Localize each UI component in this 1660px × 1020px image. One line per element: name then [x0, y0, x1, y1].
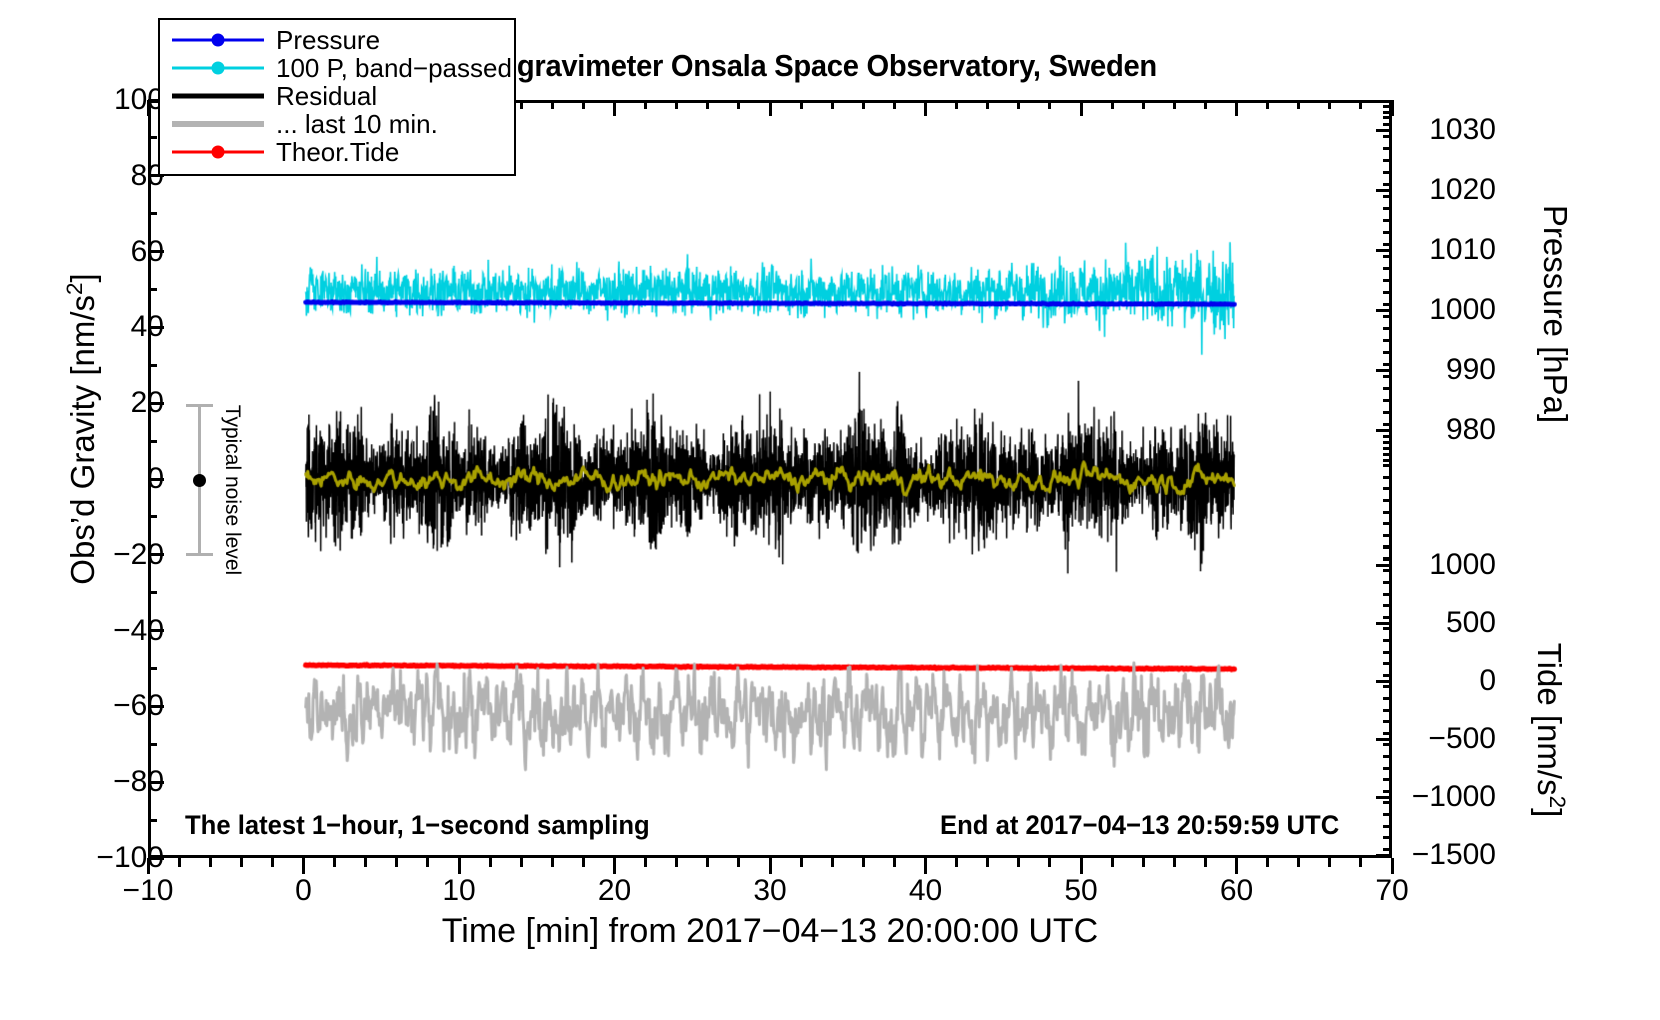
x-tick-minor — [520, 858, 523, 867]
x-tick-minor — [551, 858, 554, 867]
y-tick-left-minor — [148, 819, 157, 822]
y-tick-right-minor — [1383, 116, 1392, 119]
legend-item-label: Theor.Tide — [264, 137, 399, 168]
y-tick-pressure-minor — [1383, 147, 1392, 150]
y-tick-pressure — [1376, 129, 1392, 132]
y-tick-right-minor — [1383, 511, 1392, 514]
x-tick-top-minor — [1297, 100, 1300, 109]
y-tick-tide-label: −500 — [1404, 724, 1496, 754]
y-tick-pressure-minor — [1383, 351, 1392, 354]
x-tick-top — [769, 100, 772, 116]
y-tick-tide-minor — [1383, 662, 1392, 665]
y-tick-tide-minor — [1383, 767, 1392, 770]
plot-area — [148, 100, 1392, 858]
y-tick-pressure — [1376, 369, 1392, 372]
x-tick — [1080, 858, 1083, 874]
y-tick-right-minor — [1383, 453, 1392, 456]
y-tick-pressure — [1376, 429, 1392, 432]
x-tick-label: −10 — [88, 876, 208, 906]
y-tick-tide — [1376, 796, 1392, 799]
y-tick-left-label: −60 — [44, 691, 164, 721]
x-tick-minor — [426, 858, 429, 867]
x-tick-minor — [862, 858, 865, 867]
x-tick-top-minor — [1142, 100, 1145, 109]
legend-item-2: Residual — [160, 82, 514, 110]
y-tick-pressure-minor — [1383, 183, 1392, 186]
y-tick-pressure — [1376, 249, 1392, 252]
x-tick-top — [924, 100, 927, 116]
y-axis-tide-label: Tide [nm/s2] — [1530, 580, 1570, 880]
y-tick-right-minor — [1383, 487, 1392, 490]
x-tick-top-minor — [737, 100, 740, 109]
legend-swatch-icon — [172, 58, 264, 78]
x-tick-minor — [675, 858, 678, 867]
y-tick-left-label: 80 — [44, 161, 164, 191]
y-tick-pressure-label: 980 — [1404, 415, 1496, 445]
x-tick-top-minor — [582, 100, 585, 109]
x-tick-minor — [240, 858, 243, 867]
y-tick-pressure-minor — [1383, 111, 1392, 114]
y-axis-pressure-label: Pressure [hPa] — [1536, 149, 1574, 479]
y-tick-right-minor — [1383, 105, 1392, 108]
x-tick — [613, 858, 616, 874]
y-tick-pressure-label: 1010 — [1404, 235, 1496, 265]
y-tick-pressure-minor — [1383, 387, 1392, 390]
y-tick-pressure-minor — [1383, 291, 1392, 294]
y-tick-tide-minor — [1383, 616, 1392, 619]
x-tick-top-minor — [1111, 100, 1114, 109]
x-tick-top-minor — [675, 100, 678, 109]
y-tick-tide-label: 0 — [1404, 666, 1496, 696]
y-tick-tide — [1376, 564, 1392, 567]
legend-item-label: Residual — [264, 81, 377, 112]
x-tick-top-minor — [520, 100, 523, 109]
x-tick-top-minor — [1048, 100, 1051, 109]
y-tick-tide-minor — [1383, 697, 1392, 700]
y-tick-right-minor — [1383, 545, 1392, 548]
y-tick-tide-minor — [1383, 685, 1392, 688]
y-tick-pressure-minor — [1383, 339, 1392, 342]
x-tick-label: 50 — [1021, 876, 1141, 906]
y-tick-tide-minor — [1383, 755, 1392, 758]
y-tick-tide-minor — [1383, 836, 1392, 839]
y-tick-right-minor — [1383, 534, 1392, 537]
y-tick-pressure-minor — [1383, 267, 1392, 270]
x-tick-minor — [893, 858, 896, 867]
y-tick-tide-minor — [1383, 790, 1392, 793]
legend-marker-dot — [212, 34, 225, 47]
x-tick — [302, 858, 305, 874]
y-tick-tide-minor — [1383, 627, 1392, 630]
x-tick-minor — [489, 858, 492, 867]
y-tick-pressure-minor — [1383, 219, 1392, 222]
x-tick-minor — [1359, 858, 1362, 867]
x-tick-label: 20 — [555, 876, 675, 906]
y-tick-tide-minor — [1383, 639, 1392, 642]
y-tick-pressure-minor — [1383, 327, 1392, 330]
y-tick-tide-minor — [1383, 743, 1392, 746]
y-tick-pressure-minor — [1383, 435, 1392, 438]
y-tick-pressure-minor — [1383, 207, 1392, 210]
x-tick-minor — [737, 858, 740, 867]
legend-item-label: Pressure — [264, 25, 380, 56]
y-tick-pressure-label: 1030 — [1404, 115, 1496, 145]
y-tick-tide-minor — [1383, 593, 1392, 596]
y-tick-pressure-minor — [1383, 315, 1392, 318]
y-tick-pressure-minor — [1383, 411, 1392, 414]
x-tick-label: 0 — [244, 876, 364, 906]
legend-marker-dot — [212, 62, 225, 75]
x-tick-top-minor — [955, 100, 958, 109]
x-tick-label: 10 — [399, 876, 519, 906]
y-tick-pressure-minor — [1383, 255, 1392, 258]
noise-bar-bottom-cap — [186, 553, 213, 556]
y-tick-left-minor — [148, 515, 157, 518]
y-tick-pressure-label: 990 — [1404, 355, 1496, 385]
x-tick-minor — [706, 858, 709, 867]
x-tick-top-minor — [1204, 100, 1207, 109]
x-tick-label: 70 — [1332, 876, 1452, 906]
y-tick-left-label: −80 — [44, 767, 164, 797]
y-tick-tide-minor — [1383, 720, 1392, 723]
y-tick-tide-minor — [1383, 848, 1392, 851]
y-tick-tide — [1376, 622, 1392, 625]
x-tick-top-minor — [862, 100, 865, 109]
noise-center-dot — [193, 474, 206, 487]
x-tick-minor — [800, 858, 803, 867]
y-tick-tide-minor — [1383, 581, 1392, 584]
x-tick-minor — [271, 858, 274, 867]
x-tick-label: 30 — [710, 876, 830, 906]
end-time-note: End at 2017−04−13 20:59:59 UTC — [940, 810, 1339, 841]
x-tick-top — [147, 100, 150, 116]
y-tick-pressure-minor — [1383, 135, 1392, 138]
x-tick-minor — [831, 858, 834, 867]
x-tick-minor — [1017, 858, 1020, 867]
y-tick-left-minor — [148, 288, 157, 291]
y-tick-tide-minor — [1383, 604, 1392, 607]
x-tick-top-minor — [706, 100, 709, 109]
x-tick-label: 60 — [1177, 876, 1297, 906]
y-tick-pressure-minor — [1383, 123, 1392, 126]
legend-swatch-icon — [172, 30, 264, 50]
legend: Pressure100 P, band−passedResidual... la… — [158, 18, 516, 176]
x-tick-minor — [1266, 858, 1269, 867]
x-tick-minor — [1173, 858, 1176, 867]
y-tick-pressure-minor — [1383, 459, 1392, 462]
legend-item-label: ... last 10 min. — [264, 109, 438, 140]
x-axis-label: Time [min] from 2017−04−13 20:00:00 UTC — [148, 912, 1392, 951]
x-tick-top — [1391, 100, 1394, 116]
y-tick-tide-minor — [1383, 778, 1392, 781]
y-tick-pressure-minor — [1383, 231, 1392, 234]
y-tick-tide-label: 500 — [1404, 608, 1496, 638]
y-tick-tide-minor — [1383, 651, 1392, 654]
y-tick-pressure — [1376, 309, 1392, 312]
y-tick-tide-minor — [1383, 732, 1392, 735]
x-tick-minor — [364, 858, 367, 867]
x-tick-minor — [1142, 858, 1145, 867]
x-tick-minor — [1297, 858, 1300, 867]
y-tick-left-minor — [148, 440, 157, 443]
y-tick-tide — [1376, 738, 1392, 741]
x-tick-minor — [209, 858, 212, 867]
x-tick-top — [1080, 100, 1083, 116]
plot-canvas — [151, 103, 1389, 855]
x-tick — [1235, 858, 1238, 874]
y-tick-left-minor — [148, 667, 157, 670]
x-tick-minor — [1204, 858, 1207, 867]
y-tick-right-minor — [1383, 557, 1392, 560]
y-tick-tide — [1376, 680, 1392, 683]
y-tick-pressure-minor — [1383, 447, 1392, 450]
x-tick-label: 40 — [866, 876, 986, 906]
legend-item-3: ... last 10 min. — [160, 110, 514, 138]
y-axis-left-label: Obs’d Gravity [nm/s2] — [62, 199, 102, 659]
x-tick-minor — [582, 858, 585, 867]
y-tick-right-minor — [1383, 476, 1392, 479]
y-tick-tide-minor — [1383, 825, 1392, 828]
legend-item-4: Theor.Tide — [160, 138, 514, 166]
noise-level-label: Typical noise level — [220, 390, 244, 590]
y-tick-right-minor — [1383, 499, 1392, 502]
y-tick-left-minor — [148, 136, 157, 139]
x-tick — [458, 858, 461, 874]
y-tick-pressure-minor — [1383, 195, 1392, 198]
x-tick — [147, 858, 150, 874]
y-tick-pressure — [1376, 189, 1392, 192]
y-tick-pressure-minor — [1383, 303, 1392, 306]
x-tick — [769, 858, 772, 874]
y-tick-pressure-minor — [1383, 363, 1392, 366]
sampling-note: The latest 1−hour, 1−second sampling — [185, 810, 650, 841]
legend-item-1: 100 P, band−passed — [160, 54, 514, 82]
x-tick-minor — [644, 858, 647, 867]
x-tick-top-minor — [986, 100, 989, 109]
x-tick-top — [1235, 100, 1238, 116]
x-tick-top-minor — [893, 100, 896, 109]
legend-swatch-icon — [172, 86, 264, 106]
legend-item-0: Pressure — [160, 26, 514, 54]
x-tick-top-minor — [1328, 100, 1331, 109]
x-tick-minor — [1111, 858, 1114, 867]
y-tick-pressure-minor — [1383, 171, 1392, 174]
x-tick-top-minor — [800, 100, 803, 109]
y-tick-tide-label: −1000 — [1404, 782, 1496, 812]
y-tick-left-minor — [148, 364, 157, 367]
x-tick-top-minor — [1266, 100, 1269, 109]
x-tick-minor — [333, 858, 336, 867]
y-tick-tide-minor — [1383, 674, 1392, 677]
y-tick-pressure-label: 1000 — [1404, 295, 1496, 325]
y-tick-pressure-minor — [1383, 279, 1392, 282]
x-tick-top-minor — [831, 100, 834, 109]
y-tick-tide-label: −1500 — [1404, 840, 1496, 870]
y-tick-tide-minor — [1383, 709, 1392, 712]
x-tick-minor — [1328, 858, 1331, 867]
y-tick-pressure-minor — [1383, 375, 1392, 378]
x-tick-minor — [1048, 858, 1051, 867]
x-tick-minor — [178, 858, 181, 867]
x-tick-minor — [395, 858, 398, 867]
y-tick-tide-minor — [1383, 801, 1392, 804]
y-tick-left-minor — [148, 591, 157, 594]
x-tick-top-minor — [551, 100, 554, 109]
x-tick-top-minor — [644, 100, 647, 109]
y-tick-tide-minor — [1383, 813, 1392, 816]
y-tick-left-minor — [148, 212, 157, 215]
legend-item-label: 100 P, band−passed — [264, 53, 512, 84]
legend-swatch-icon — [172, 114, 264, 134]
x-tick — [1391, 858, 1394, 874]
y-tick-pressure-minor — [1383, 159, 1392, 162]
legend-marker-dot — [212, 146, 225, 159]
x-tick-minor — [986, 858, 989, 867]
x-tick-top — [613, 100, 616, 116]
y-tick-right-minor — [1383, 441, 1392, 444]
y-tick-left-minor — [148, 743, 157, 746]
x-tick-top-minor — [1173, 100, 1176, 109]
x-tick — [924, 858, 927, 874]
y-tick-tide-label: 1000 — [1404, 550, 1496, 580]
legend-swatch-icon — [172, 142, 264, 162]
y-tick-pressure-minor — [1383, 423, 1392, 426]
y-tick-tide — [1376, 854, 1392, 857]
y-tick-right-minor — [1383, 464, 1392, 467]
y-tick-pressure-minor — [1383, 243, 1392, 246]
x-tick-minor — [955, 858, 958, 867]
y-tick-right-minor — [1383, 522, 1392, 525]
x-tick-top-minor — [1359, 100, 1362, 109]
y-tick-pressure-label: 1020 — [1404, 175, 1496, 205]
y-tick-tide-minor — [1383, 569, 1392, 572]
x-tick-top-minor — [1017, 100, 1020, 109]
y-tick-pressure-minor — [1383, 399, 1392, 402]
